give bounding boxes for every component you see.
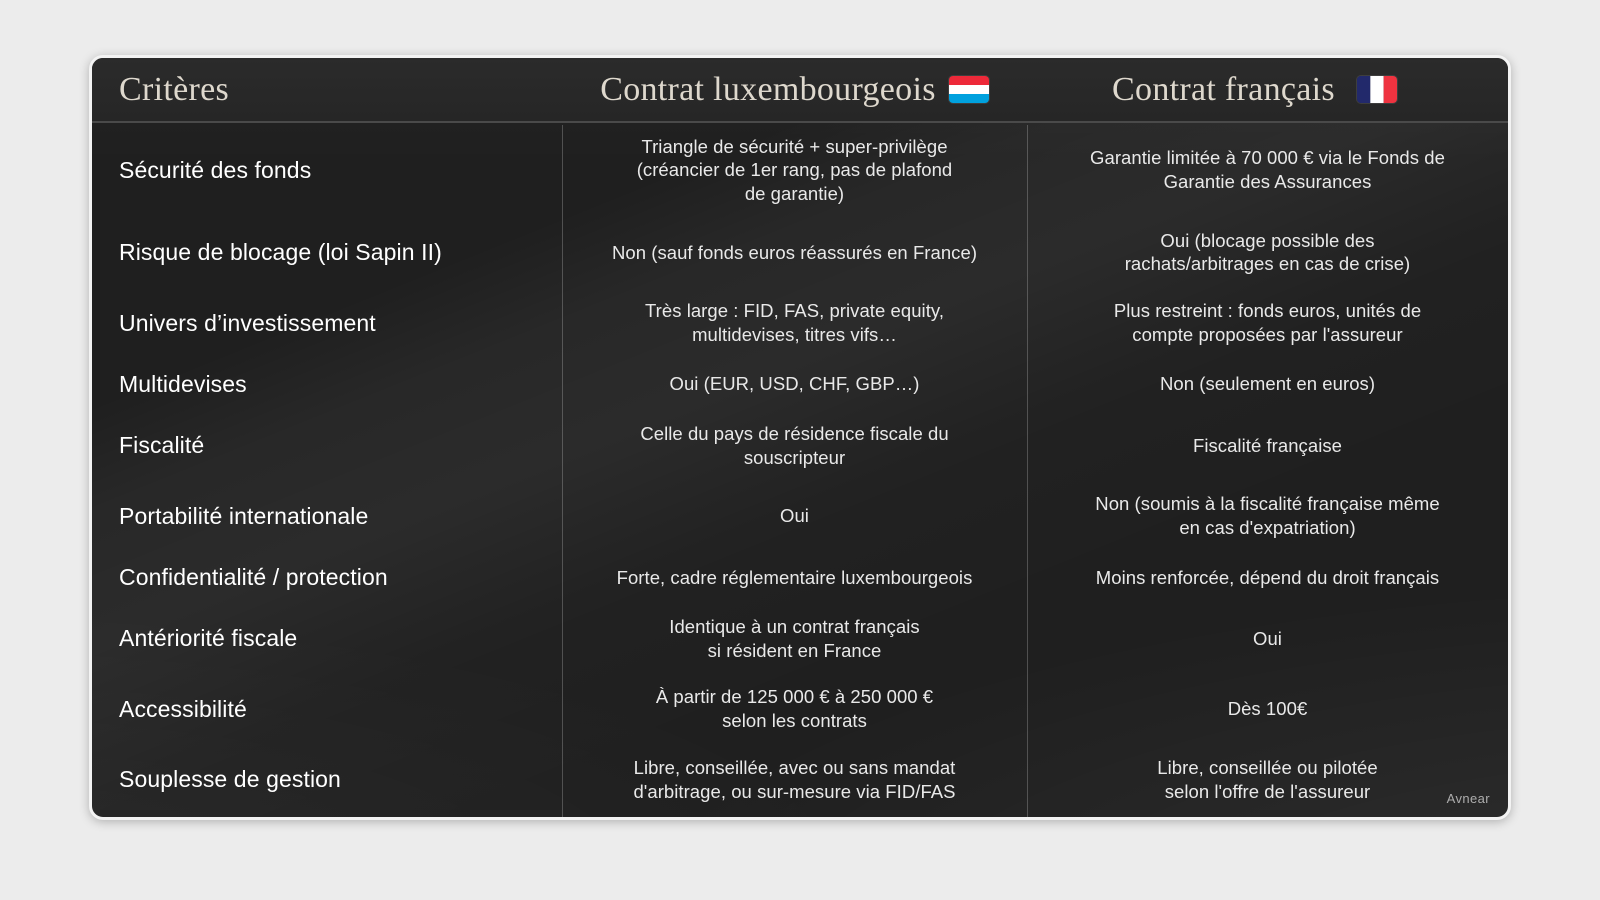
luxembourg-value: Oui (EUR, USD, CHF, GBP…) <box>670 372 920 396</box>
criteria-label: Sécurité des fonds <box>119 156 311 185</box>
criteria-label: Portabilité internationale <box>119 502 368 531</box>
page-root: Critères Contrat luxembourgeois Contrat … <box>0 0 1600 900</box>
table-header-row: Critères Contrat luxembourgeois Contrat … <box>92 58 1508 123</box>
luxembourg-value: Très large : FID, FAS, private equity, m… <box>645 299 944 346</box>
luxembourg-value: À partir de 125 000 € à 250 000 € selon … <box>656 685 933 732</box>
comparison-table-panel: Critères Contrat luxembourgeois Contrat … <box>89 55 1511 820</box>
cell-france-value: Libre, conseillée ou pilotée selon l'off… <box>1027 744 1508 815</box>
france-value: Fiscalité française <box>1193 434 1342 458</box>
france-value: Garantie limitée à 70 000 € via le Fonds… <box>1090 146 1445 193</box>
cell-france-value: Non (seulement en euros) <box>1027 358 1508 410</box>
table-row: Risque de blocage (loi Sapin II)Non (sau… <box>92 217 1508 288</box>
luxembourg-value: Non (sauf fonds euros réassurés en Franc… <box>612 241 977 265</box>
france-value: Non (soumis à la fiscalité française mêm… <box>1095 492 1439 539</box>
cell-criteria: Souplesse de gestion <box>92 744 562 815</box>
cell-criteria: Risque de blocage (loi Sapin II) <box>92 217 562 288</box>
table-row: Univers d’investissementTrès large : FID… <box>92 288 1508 359</box>
criteria-label: Fiscalité <box>119 431 204 460</box>
luxembourg-value: Triangle de sécurité + super-privilège (… <box>637 135 953 206</box>
header-label-luxembourg: Contrat luxembourgeois <box>600 71 936 109</box>
cell-france-value: Garantie limitée à 70 000 € via le Fonds… <box>1027 123 1508 217</box>
cell-luxembourg-value: Très large : FID, FAS, private equity, m… <box>562 288 1027 359</box>
table-row: Souplesse de gestionLibre, conseillée, a… <box>92 744 1508 815</box>
cell-luxembourg-value: Triangle de sécurité + super-privilège (… <box>562 123 1027 217</box>
header-cell-france: Contrat français <box>1027 58 1508 121</box>
cell-france-value: Moins renforcée, dépend du droit françai… <box>1027 551 1508 603</box>
table-row: FiscalitéCelle du pays de résidence fisc… <box>92 410 1508 481</box>
france-value: Libre, conseillée ou pilotée selon l'off… <box>1157 756 1377 803</box>
cell-criteria: Portabilité internationale <box>92 481 562 552</box>
criteria-label: Multidevises <box>119 370 247 399</box>
cell-criteria: Fiscalité <box>92 410 562 481</box>
table-row: AccessibilitéÀ partir de 125 000 € à 250… <box>92 674 1508 745</box>
header-cell-luxembourg: Contrat luxembourgeois <box>562 58 1027 121</box>
cell-criteria: Multidevises <box>92 358 562 410</box>
cell-criteria: Sécurité des fonds <box>92 123 562 217</box>
table-row: Confidentialité / protectionForte, cadre… <box>92 551 1508 603</box>
criteria-label: Univers d’investissement <box>119 309 376 338</box>
criteria-label: Confidentialité / protection <box>119 563 388 592</box>
cell-luxembourg-value: À partir de 125 000 € à 250 000 € selon … <box>562 674 1027 745</box>
flag-france-icon <box>1357 76 1397 103</box>
table-row: MultidevisesOui (EUR, USD, CHF, GBP…)Non… <box>92 358 1508 410</box>
cell-luxembourg-value: Identique à un contrat français si résid… <box>562 603 1027 674</box>
luxembourg-value: Oui <box>780 504 809 528</box>
cell-criteria: Accessibilité <box>92 674 562 745</box>
luxembourg-value: Identique à un contrat français si résid… <box>669 615 919 662</box>
header-label-criteria: Critères <box>119 71 229 109</box>
table-body: Sécurité des fondsTriangle de sécurité +… <box>92 123 1508 815</box>
criteria-label: Risque de blocage (loi Sapin II) <box>119 238 442 267</box>
cell-luxembourg-value: Oui (EUR, USD, CHF, GBP…) <box>562 358 1027 410</box>
flag-luxembourg-icon <box>949 76 989 103</box>
france-value: Non (seulement en euros) <box>1160 372 1375 396</box>
luxembourg-value: Forte, cadre réglementaire luxembourgeoi… <box>617 566 973 590</box>
table-row: Sécurité des fondsTriangle de sécurité +… <box>92 123 1508 217</box>
france-value: Dès 100€ <box>1228 697 1308 721</box>
cell-france-value: Oui (blocage possible des rachats/arbitr… <box>1027 217 1508 288</box>
cell-luxembourg-value: Non (sauf fonds euros réassurés en Franc… <box>562 217 1027 288</box>
criteria-label: Accessibilité <box>119 695 247 724</box>
header-label-france: Contrat français <box>1112 71 1335 109</box>
cell-criteria: Confidentialité / protection <box>92 551 562 603</box>
france-value: Oui (blocage possible des rachats/arbitr… <box>1125 229 1411 276</box>
cell-criteria: Antériorité fiscale <box>92 603 562 674</box>
criteria-label: Antériorité fiscale <box>119 624 297 653</box>
table-row: Antériorité fiscaleIdentique à un contra… <box>92 603 1508 674</box>
france-value: Oui <box>1253 627 1282 651</box>
cell-luxembourg-value: Forte, cadre réglementaire luxembourgeoi… <box>562 551 1027 603</box>
luxembourg-value: Celle du pays de résidence fiscale du so… <box>640 422 948 469</box>
cell-france-value: Non (soumis à la fiscalité française mêm… <box>1027 481 1508 552</box>
table-row: Portabilité internationaleOuiNon (soumis… <box>92 481 1508 552</box>
cell-luxembourg-value: Celle du pays de résidence fiscale du so… <box>562 410 1027 481</box>
cell-france-value: Plus restreint : fonds euros, unités de … <box>1027 288 1508 359</box>
cell-luxembourg-value: Libre, conseillée, avec ou sans mandat d… <box>562 744 1027 815</box>
france-value: Plus restreint : fonds euros, unités de … <box>1114 299 1421 346</box>
criteria-label: Souplesse de gestion <box>119 765 341 794</box>
header-cell-criteria: Critères <box>92 58 562 121</box>
luxembourg-value: Libre, conseillée, avec ou sans mandat d… <box>633 756 955 803</box>
france-value: Moins renforcée, dépend du droit françai… <box>1096 566 1439 590</box>
cell-france-value: Dès 100€ <box>1027 674 1508 745</box>
cell-luxembourg-value: Oui <box>562 481 1027 552</box>
cell-france-value: Fiscalité française <box>1027 410 1508 481</box>
watermark-logo: Avnear <box>1447 791 1490 806</box>
cell-criteria: Univers d’investissement <box>92 288 562 359</box>
cell-france-value: Oui <box>1027 603 1508 674</box>
